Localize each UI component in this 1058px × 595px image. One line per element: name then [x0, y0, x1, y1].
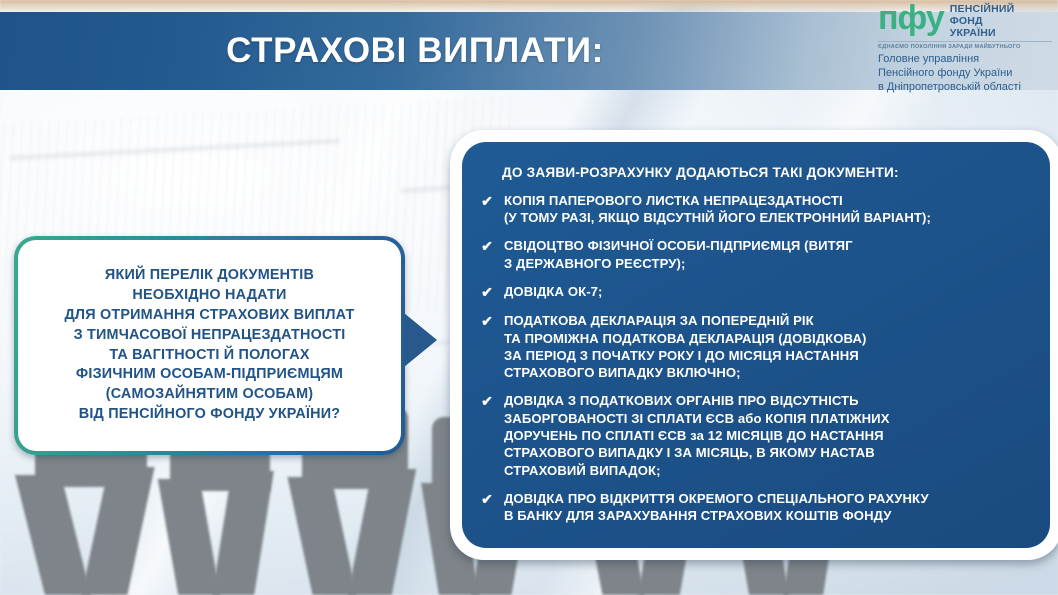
document-list-item: ✔КОПІЯ ПАПЕРОВОГО ЛИСТКА НЕПРАЦЕЗДАТНОСТ… [480, 192, 1030, 227]
document-list-item-text: КОПІЯ ПАПЕРОВОГО ЛИСТКА НЕПРАЦЕЗДАТНОСТІ… [504, 192, 931, 227]
arrow-right-icon [404, 313, 437, 367]
check-icon: ✔ [480, 490, 494, 508]
document-list-item-text: ПОДАТКОВА ДЕКЛАРАЦІЯ ЗА ПОПЕРЕДНІЙ РІКТА… [504, 312, 866, 381]
office-line-2: Пенсійного фонду України [878, 67, 1052, 81]
check-icon: ✔ [480, 192, 494, 210]
check-icon: ✔ [480, 392, 494, 410]
question-line-6: ФІЗИЧНИМ ОСОБАМ-ПІДПРИЄМЦЯМ [32, 365, 387, 385]
regional-office-label: Головне управління Пенсійного фонду Укра… [878, 53, 1052, 94]
page-title: СТРАХОВІ ВИПЛАТИ: [0, 12, 830, 90]
question-card-body: ЯКИЙ ПЕРЕЛІК ДОКУМЕНТІВ НЕОБХІДНО НАДАТИ… [18, 240, 401, 451]
document-list-item: ✔СВІДОЦТВО ФІЗИЧНОЇ ОСОБИ-ПІДПРИЄМЦЯ (ВИ… [480, 237, 1030, 272]
slide-canvas: СТРАХОВІ ВИПЛАТИ: пфу ПЕНСІЙНИЙ ФОНД УКР… [0, 0, 1058, 595]
question-line-7: (САМОЗАЙНЯТИМ ОСОБАМ) [32, 385, 387, 405]
document-list-item-text: ДОВІДКА З ПОДАТКОВИХ ОРГАНІВ ПРО ВІДСУТН… [504, 392, 890, 478]
check-icon: ✔ [480, 237, 494, 255]
logo-name-line-2: ФОНД [950, 16, 1015, 28]
document-text-line: СТРАХОВИЙ ВИПАДОК; [504, 462, 890, 479]
office-line-1: Головне управління [878, 53, 1052, 67]
document-text-line: ПОДАТКОВА ДЕКЛАРАЦІЯ ЗА ПОПЕРЕДНІЙ РІК [504, 312, 866, 329]
documents-panel-body: ДО ЗАЯВИ-РОЗРАХУНКУ ДОДАЮТЬСЯ ТАКІ ДОКУМ… [462, 142, 1050, 548]
documents-panel: ДО ЗАЯВИ-РОЗРАХУНКУ ДОДАЮТЬСЯ ТАКІ ДОКУМ… [450, 130, 1058, 560]
question-line-4: З ТИМЧАСОВОЇ НЕПРАЦЕЗДАТНОСТІ [32, 326, 387, 346]
pfu-logo-name: ПЕНСІЙНИЙ ФОНД УКРАЇНИ [950, 2, 1015, 39]
document-list-item: ✔ПОДАТКОВА ДЕКЛАРАЦІЯ ЗА ПОПЕРЕДНІЙ РІКТ… [480, 312, 1030, 381]
pfu-logo-icon: пфу [878, 2, 944, 34]
document-text-line: ДОВІДКА ПРО ВІДКРИТТЯ ОКРЕМОГО СПЕЦІАЛЬН… [504, 490, 929, 507]
document-list-item: ✔ДОВІДКА ОК-7; [480, 283, 1030, 301]
logo-tagline: ЄДНАЄМО ПОКОЛІННЯ ЗАРАДИ МАЙБУТНЬОГО [878, 41, 1052, 50]
logo-name-line-3: УКРАЇНИ [950, 28, 1015, 40]
pfu-logo-block: пфу ПЕНСІЙНИЙ ФОНД УКРАЇНИ ЄДНАЄМО ПОКОЛ… [874, 2, 1054, 95]
document-text-line: (У ТОМУ РАЗІ, ЯКЩО ВІДСУТНІЙ ЙОГО ЕЛЕКТР… [504, 209, 931, 226]
document-text-line: ДОРУЧЕНЬ ПО СПЛАТІ ЄСВ за 12 МІСЯЦІВ ДО … [504, 427, 890, 444]
document-text-line: ЗАБОРГОВАНОСТІ ЗІ СПЛАТИ ЄСВ або КОПІЯ П… [504, 410, 890, 427]
document-list-item-text: СВІДОЦТВО ФІЗИЧНОЇ ОСОБИ-ПІДПРИЄМЦЯ (ВИТ… [504, 237, 853, 272]
question-line-5: ТА ВАГІТНОСТІ Й ПОЛОГАХ [32, 346, 387, 366]
document-text-line: З ДЕРЖАВНОГО РЕЄСТРУ); [504, 255, 853, 272]
document-list-item-text: ДОВІДКА ОК-7; [504, 283, 603, 300]
documents-heading: ДО ЗАЯВИ-РОЗРАХУНКУ ДОДАЮТЬСЯ ТАКІ ДОКУМ… [502, 164, 1030, 182]
document-text-line: ЗА ПЕРІОД З ПОЧАТКУ РОКУ І ДО МІСЯЦЯ НАС… [504, 347, 866, 364]
question-line-2: НЕОБХІДНО НАДАТИ [32, 286, 387, 306]
document-text-line: СТРАХОВОГО ВИПАДКУ І ЗА МІСЯЦЬ, В ЯКОМУ … [504, 444, 890, 461]
document-text-line: ТА ПРОМІЖНА ПОДАТКОВА ДЕКЛАРАЦІЯ (ДОВІДК… [504, 330, 866, 347]
check-icon: ✔ [480, 312, 494, 330]
document-list-item: ✔ДОВІДКА З ПОДАТКОВИХ ОРГАНІВ ПРО ВІДСУТ… [480, 392, 1030, 478]
logo-name-line-1: ПЕНСІЙНИЙ [950, 4, 1015, 16]
question-card: ЯКИЙ ПЕРЕЛІК ДОКУМЕНТІВ НЕОБХІДНО НАДАТИ… [14, 236, 405, 455]
document-text-line: СВІДОЦТВО ФІЗИЧНОЇ ОСОБИ-ПІДПРИЄМЦЯ (ВИТ… [504, 237, 853, 254]
document-text-line: КОПІЯ ПАПЕРОВОГО ЛИСТКА НЕПРАЦЕЗДАТНОСТІ [504, 192, 931, 209]
question-line-8: ВІД ПЕНСІЙНОГО ФОНДУ УКРАЇНИ? [32, 405, 387, 425]
office-line-3: в Дніпропетровській області [878, 81, 1052, 95]
document-text-line: СТРАХОВОГО ВИПАДКУ ВКЛЮЧНО; [504, 364, 866, 381]
document-list-item-text: ДОВІДКА ПРО ВІДКРИТТЯ ОКРЕМОГО СПЕЦІАЛЬН… [504, 490, 929, 525]
documents-list: ✔КОПІЯ ПАПЕРОВОГО ЛИСТКА НЕПРАЦЕЗДАТНОСТ… [480, 192, 1030, 525]
document-text-line: ДОВІДКА ОК-7; [504, 283, 603, 300]
check-icon: ✔ [480, 283, 494, 301]
question-line-3: ДЛЯ ОТРИМАННЯ СТРАХОВИХ ВИПЛАТ [32, 306, 387, 326]
document-text-line: В БАНКУ ДЛЯ ЗАРАХУВАННЯ СТРАХОВИХ КОШТІВ… [504, 507, 929, 524]
document-list-item: ✔ДОВІДКА ПРО ВІДКРИТТЯ ОКРЕМОГО СПЕЦІАЛЬ… [480, 490, 1030, 525]
document-text-line: ДОВІДКА З ПОДАТКОВИХ ОРГАНІВ ПРО ВІДСУТН… [504, 392, 890, 409]
question-line-1: ЯКИЙ ПЕРЕЛІК ДОКУМЕНТІВ [32, 266, 387, 286]
